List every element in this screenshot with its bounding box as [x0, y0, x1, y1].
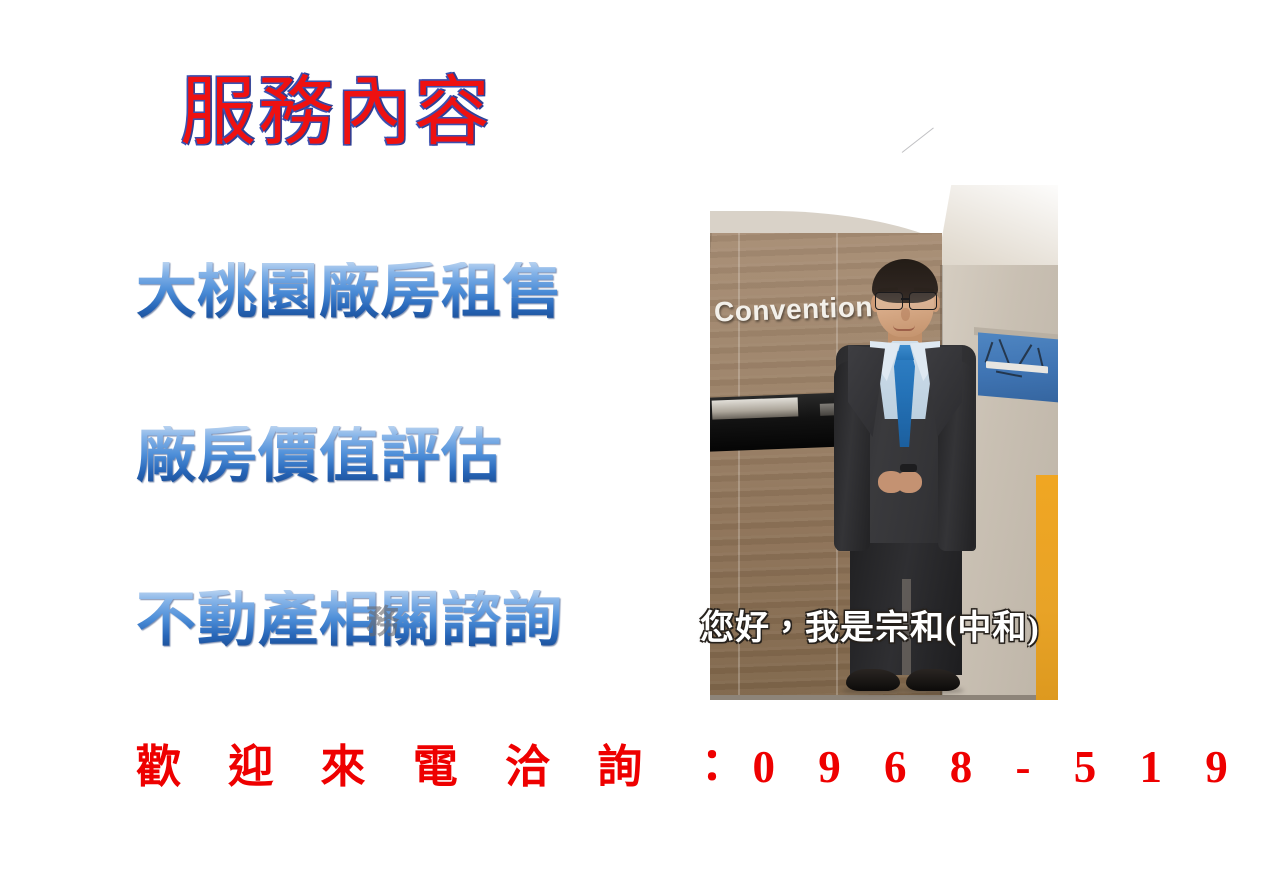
shoe-right: [906, 669, 960, 691]
wristwatch: [900, 464, 917, 472]
glasses-bridge: [901, 298, 909, 300]
slide-canvas: 服務內容 大桃園廠房租售 廠房價值評估 不動產相關諮詢 務 Convention…: [0, 0, 1263, 891]
contact-phone-number: 0 9 6 8 - 5 1 9 - 8 8 8: [753, 745, 1263, 790]
service-item-3: 不動產相關諮詢: [136, 590, 563, 650]
hand-right: [896, 471, 922, 493]
contact-line: 歡 迎 來 電 洽 詢 ： 0 9 6 8 - 5 1 9 - 8 8 8: [136, 745, 1263, 790]
service-item-1: 大桃園廠房租售: [136, 262, 563, 322]
photo-caption: 您好，我是宗和(中和): [700, 612, 1040, 646]
service-item-2: 廠房價值評估: [136, 426, 502, 486]
lens-right: [909, 292, 937, 310]
eyeglasses-icon: [873, 292, 937, 309]
shoe-left: [846, 669, 900, 691]
mouth: [893, 325, 915, 331]
artifact-glyph: 務: [366, 607, 399, 640]
page-title: 服務內容: [180, 72, 492, 154]
nose: [901, 308, 910, 321]
contact-label: 歡 迎 來 電 洽 詢 ：: [136, 745, 753, 790]
artifact-diagonal-line: [902, 127, 934, 152]
lens-left: [875, 292, 903, 310]
